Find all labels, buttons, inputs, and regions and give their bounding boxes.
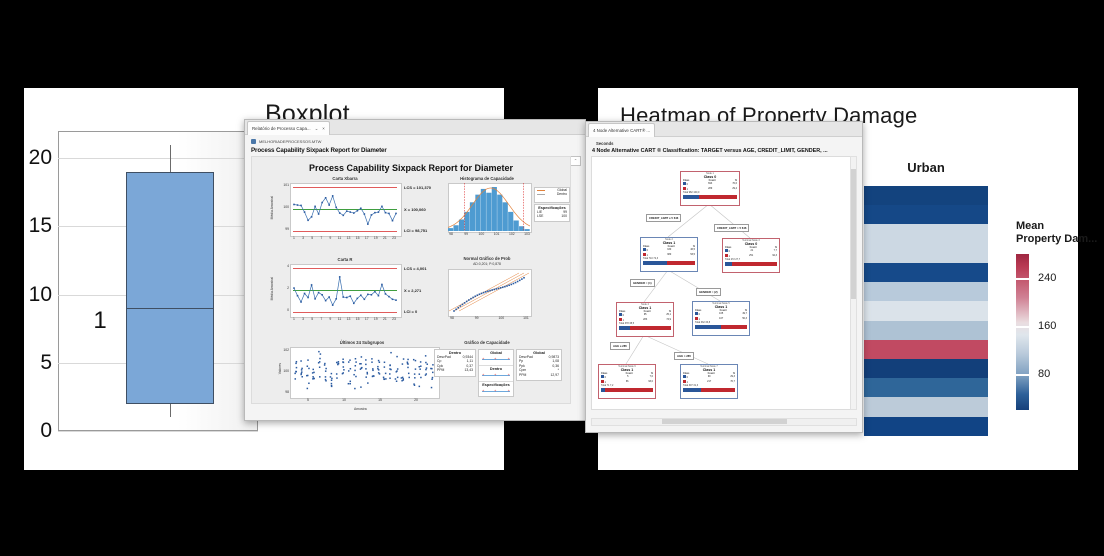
- cart-vertical-scroll-thumb[interactable]: [851, 169, 856, 299]
- cart-tree-node[interactable]: Terminal Node 7Class 1ClassCount% 09029,…: [680, 364, 738, 399]
- boxplot-x-tick-1: 1: [0, 307, 200, 335]
- xbar-chart-x-tick: 5: [308, 236, 316, 240]
- mini-panel-interval: +++: [482, 356, 510, 363]
- xbar-chart-x-tick: 9: [326, 236, 334, 240]
- boxplot-chart: 05101520: [58, 131, 258, 431]
- probplot-x-tick: 98: [448, 316, 456, 320]
- global-stats-table-stat-name: PPM: [519, 373, 526, 377]
- heatmap-cell: [864, 205, 988, 224]
- xbar-chart-x-tick: 7: [317, 236, 325, 240]
- mini-panel-interval: +++: [482, 388, 510, 395]
- xbar-chart-x-tick: 11: [335, 236, 343, 240]
- spec-name: LSE: [537, 214, 543, 218]
- probplot-title: Normal Gráfico de Prob: [432, 256, 542, 261]
- r-chart-x-tick: 7: [317, 317, 325, 321]
- minitab-tab-label: Relatório de Processo Capa...: [252, 126, 311, 131]
- within-stats-table-stat-value: 13,43: [465, 368, 474, 372]
- cart-node-total: Total 378 38,5: [617, 322, 673, 325]
- cart-tabstrip: 4 Node Alternative CART® ...: [586, 122, 862, 137]
- xbar-chart-x-tick: 19: [372, 236, 380, 240]
- heatmap-cell: [864, 378, 988, 397]
- cart-node-value-cell: 380: [667, 253, 671, 257]
- mini-panel-header: Global: [479, 350, 513, 355]
- boxplot-upper-whisker: [170, 145, 171, 172]
- heatmap-cell: [864, 186, 988, 205]
- cart-tree-canvas: Node 1Class 0ClassCount% 069370,6 128929…: [591, 156, 851, 410]
- histogram-title: Histograma de Capacidade: [432, 176, 542, 181]
- capability-mini-panels: Global+++Dentro+++Especificações+++: [478, 349, 514, 397]
- heatmap-cell: [864, 263, 988, 282]
- cart-tree-node[interactable]: Terminal Node 5Class 1ClassCount% 016549…: [692, 301, 750, 336]
- heatmap-cell: [864, 282, 988, 301]
- heatmap-cell: [864, 321, 988, 340]
- cart-tree-node[interactable]: Node 1Class 0ClassCount% 069370,6 128929…: [680, 171, 740, 206]
- r-chart-y-axis-title: Média Amostral: [270, 277, 274, 300]
- r-chart-x-tick: 13: [345, 317, 353, 321]
- boxplot-gridline: [58, 158, 258, 159]
- xbar-chart-series: [290, 183, 400, 235]
- scatter-x-tick: 20: [412, 398, 420, 402]
- r-chart-lcl-label: LCI = 0: [404, 309, 417, 314]
- cart-split-label: GENDER = (2): [696, 288, 721, 296]
- cart-node-total: Total 710 72,3: [641, 257, 697, 260]
- cart-tree-node[interactable]: Node 2Class 1ClassCount% 033046,5 138053…: [640, 237, 698, 272]
- histogram-x-tick: 99: [462, 232, 470, 236]
- minitab-tab[interactable]: Relatório de Processo Capa... ⌄ ×: [247, 121, 330, 135]
- cart-node-total: Total 307 31,3: [681, 384, 737, 387]
- screenshot-stage: Boxplot 05101520 1 2 Heatmap of Property…: [0, 0, 1104, 556]
- cart-node-distribution-bar: [601, 388, 653, 392]
- heatmap-cells: [864, 186, 988, 436]
- probplot-x-tick: 101: [522, 316, 530, 320]
- probplot-x-tick: 100: [497, 316, 505, 320]
- scatter-x-tick: 5: [304, 398, 312, 402]
- xbar-chart-x-tick: 1: [290, 236, 298, 240]
- boxplot-y-tick: 5: [40, 351, 52, 375]
- sixpack-report-title: Process Capability Sixpack Report for Di…: [252, 163, 570, 173]
- scatter-x-tick: 10: [340, 398, 348, 402]
- legend-title-line2: Property Dam...: [1016, 233, 1104, 246]
- histogram-x-tick: 100: [477, 232, 485, 236]
- xbar-chart-ucl-label: LCS = 101,370: [404, 185, 431, 190]
- xbar-chart-center-label: X = 100,060: [404, 207, 426, 212]
- global-stats-table-stat-value: 12,97: [551, 373, 560, 377]
- worksheet-name: MELHORIADEPROCESSOS.MTW: [259, 139, 321, 144]
- legend-notch: [1016, 278, 1029, 280]
- heatmap-column-header: Urban: [864, 160, 988, 175]
- scatter-y-tick: 100: [279, 369, 289, 373]
- xbar-chart-y-tick: 100: [280, 205, 289, 209]
- probplot-subtitle: AD:0,201; P:0,878: [432, 262, 542, 266]
- cart-heading: 4 Node Alternative CART ® Classification…: [592, 148, 828, 154]
- scatter-title: Últimos 24 Subgrupos: [282, 340, 442, 345]
- cart-tab[interactable]: 4 Node Alternative CART® ...: [588, 123, 655, 137]
- r-chart-x-tick: 23: [390, 317, 398, 321]
- r-chart-y-tick: 2: [280, 286, 289, 290]
- xbar-chart-y-tick: 99: [280, 227, 289, 231]
- cart-horizontal-scrollbar[interactable]: [591, 418, 857, 426]
- boxplot-y-tick: 20: [29, 146, 52, 170]
- r-chart-title: Carta R: [290, 257, 400, 262]
- legend-title-line1: Mean: [1016, 220, 1104, 233]
- scatter-y-tick: 102: [279, 348, 289, 352]
- mini-panel-header: Dentro: [479, 365, 513, 371]
- cart-split-label: CREDIT_LIMIT ≤ 5 646: [646, 214, 681, 222]
- within-stats-table: DentroDesvPad0,9344Cp1,11Cpk0,37PPM13,43: [434, 349, 476, 377]
- xbar-chart-x-tick: 3: [299, 236, 307, 240]
- r-chart-center-label: X = 2,271: [404, 288, 421, 293]
- cart-split-label: GENDER = (1): [630, 279, 655, 287]
- r-chart-ucl-label: LCS = 4,001: [404, 266, 427, 271]
- cart-split-label: AGE > 285: [674, 352, 694, 360]
- heatmap-cell: [864, 340, 988, 359]
- spec-value: 100: [561, 214, 567, 218]
- xbar-chart-title: Carta Xbarra: [290, 176, 400, 181]
- cart-node-total: Total 332 33,8: [693, 321, 749, 324]
- r-chart-x-tick: 1: [290, 317, 298, 321]
- r-chart-x-tick: 15: [354, 317, 362, 321]
- spec-table: EspecificaçõesLIE99LSE100: [534, 204, 570, 222]
- r-chart-x-tick: 21: [381, 317, 389, 321]
- xbar-chart-x-tick: 17: [363, 236, 371, 240]
- cart-group-label: Seconds: [596, 141, 613, 146]
- mini-panel-header: Especificações: [479, 381, 513, 387]
- worksheet-icon: [251, 139, 256, 144]
- cart-node-distribution-bar: [643, 261, 695, 265]
- cart-node-total: Total 982 100,0: [681, 191, 739, 194]
- histogram-bars: [448, 183, 530, 231]
- scatter-x-axis-title: Amostra: [354, 407, 367, 411]
- histogram-x-tick: 102: [508, 232, 516, 236]
- heatmap-cell: [864, 397, 988, 416]
- legend-notch: [1016, 326, 1029, 328]
- boxplot-y-tick: 0: [40, 419, 52, 443]
- probplot-x-tick: 99: [473, 316, 481, 320]
- boxplot-box: [126, 172, 214, 404]
- histogram-legend-item: Dentro: [535, 192, 569, 196]
- spec-table-row: LSE100: [535, 214, 569, 218]
- heatmap-chart: Urban Mean Property Dam... 24016080: [864, 160, 1074, 435]
- r-chart-x-tick: 19: [372, 317, 380, 321]
- cart-node-value-cell: 66: [626, 380, 629, 384]
- capability-title: Gráfico de Capacidade: [432, 340, 542, 345]
- legend-tick: 240: [1038, 272, 1056, 284]
- boxplot-y-tick: 15: [29, 214, 52, 238]
- cart-node-value-cell: 251: [749, 254, 753, 258]
- probplot-points: [448, 269, 530, 315]
- legend-tick: 80: [1038, 368, 1050, 380]
- cart-horizontal-scroll-thumb[interactable]: [662, 419, 787, 424]
- minitab-tabstrip: Relatório de Processo Capa... ⌄ ×: [245, 120, 585, 135]
- global-stats-table: GlobalDesvPad0,9873Pp1,08Ppk0,36Cpm*PPM1…: [516, 349, 562, 381]
- cart-node-distribution-bar: [725, 262, 777, 266]
- cart-node-value-cell: 217: [707, 380, 711, 384]
- cart-output-window[interactable]: 4 Node Alternative CART® ... Seconds 4 N…: [585, 121, 863, 433]
- r-chart-x-tick: 3: [299, 317, 307, 321]
- histogram-x-tick: 98: [447, 232, 455, 236]
- scatter-y-tick: 98: [279, 390, 289, 394]
- cart-vertical-scrollbar[interactable]: [850, 156, 857, 410]
- xbar-chart-x-tick: 13: [345, 236, 353, 240]
- cart-node-value-cell: 53,5: [690, 253, 695, 257]
- xbar-chart-x-tick: 21: [381, 236, 389, 240]
- close-icon[interactable]: ×: [322, 126, 325, 131]
- legend-tick: 160: [1038, 320, 1056, 332]
- cart-node-value-cell: 29,4: [732, 187, 737, 191]
- cart-node-value-cell: 50,3: [742, 317, 747, 321]
- boxplot-lower-whisker: [170, 404, 171, 418]
- cart-split-label: AGE ≤ 285: [610, 342, 630, 350]
- scatter-x-tick: 15: [376, 398, 384, 402]
- r-chart-series: [290, 264, 400, 316]
- cart-node-value-cell: 283: [643, 318, 647, 322]
- cart-tree-node[interactable]: Terminal Node 6Class 1ClassCount% 057,0 …: [598, 364, 656, 399]
- xbar-chart-x-tick: 23: [390, 236, 398, 240]
- heatmap-cell: [864, 224, 988, 243]
- cart-node-value-cell: 93,0: [648, 380, 653, 384]
- cart-node-distribution-bar: [695, 325, 747, 329]
- xbar-chart-lcl-label: LCI = 98,751: [404, 228, 427, 233]
- r-chart-x-tick: 9: [326, 317, 334, 321]
- cart-node-value-cell: 74,9: [666, 318, 671, 322]
- r-chart-x-tick: 5: [308, 317, 316, 321]
- cart-tree-node[interactable]: Terminal Node 3Class 0ClassCount% 0217,7…: [722, 238, 780, 273]
- r-chart-y-tick: 0: [280, 308, 289, 312]
- xbar-chart-y-axis-title: Média Amostral: [270, 196, 274, 219]
- scatter-points: [290, 347, 438, 397]
- minitab-command-heading: Process Capability Sixpack Report for Di…: [251, 147, 387, 154]
- boxplot-gridline: [58, 431, 258, 432]
- cart-node-distribution-bar: [683, 388, 735, 392]
- cart-node-distribution-bar: [683, 195, 737, 199]
- histogram-x-tick: 103: [523, 232, 531, 236]
- cart-node-value-cell: 92,3: [772, 254, 777, 258]
- histogram-x-tick: 101: [493, 232, 501, 236]
- histogram-legend: GlobalDentro: [534, 187, 570, 203]
- cart-node-value-cell: 167: [719, 317, 723, 321]
- heatmap-cell: [864, 359, 988, 378]
- cart-split-label: CREDIT_LIMIT > 5 646: [714, 224, 749, 232]
- cart-tab-label: 4 Node Alternative CART® ...: [593, 128, 650, 133]
- heatmap-cell: [864, 301, 988, 320]
- histogram-legend-label: Dentro: [557, 192, 567, 196]
- cart-node-value-cell: 289: [708, 187, 712, 191]
- r-chart-x-tick: 17: [363, 317, 371, 321]
- cart-tree-node[interactable]: Node 4Class 1ClassCount% 09525,1 128374,…: [616, 302, 674, 337]
- cart-node-total: Total 272 27,7: [723, 258, 779, 261]
- minitab-worksheet-name-row: MELHORIADEPROCESSOS.MTW: [251, 139, 321, 144]
- legend-notch: [1016, 374, 1029, 376]
- sixpack-report-canvas: Process Capability Sixpack Report for Di…: [251, 156, 571, 404]
- cart-node-total: Total 71 7,2: [599, 384, 655, 387]
- mini-panel-interval: +++: [482, 372, 510, 379]
- r-chart-y-tick: 4: [280, 264, 289, 268]
- cart-node-value-cell: 70,7: [730, 380, 735, 384]
- heatmap-legend: Mean Property Dam... 24016080: [1016, 220, 1104, 246]
- r-chart-x-tick: 11: [335, 317, 343, 321]
- xbar-chart-y-tick: 101: [280, 183, 289, 187]
- heatmap-cell: [864, 417, 988, 436]
- chevron-down-icon[interactable]: ⌄: [315, 126, 319, 132]
- minitab-output-window[interactable]: Relatório de Processo Capa... ⌄ × MELHOR…: [244, 119, 586, 421]
- within-stats-table-row: PPM13,43: [435, 368, 475, 372]
- cart-node-distribution-bar: [619, 326, 671, 330]
- global-stats-table-row: PPM12,97: [517, 373, 561, 377]
- boxplot-y-tick: 10: [29, 283, 52, 307]
- heatmap-cell: [864, 244, 988, 263]
- within-stats-table-stat-name: PPM: [437, 368, 444, 372]
- xbar-chart-x-tick: 15: [354, 236, 362, 240]
- collapse-icon[interactable]: ⌃: [570, 156, 581, 166]
